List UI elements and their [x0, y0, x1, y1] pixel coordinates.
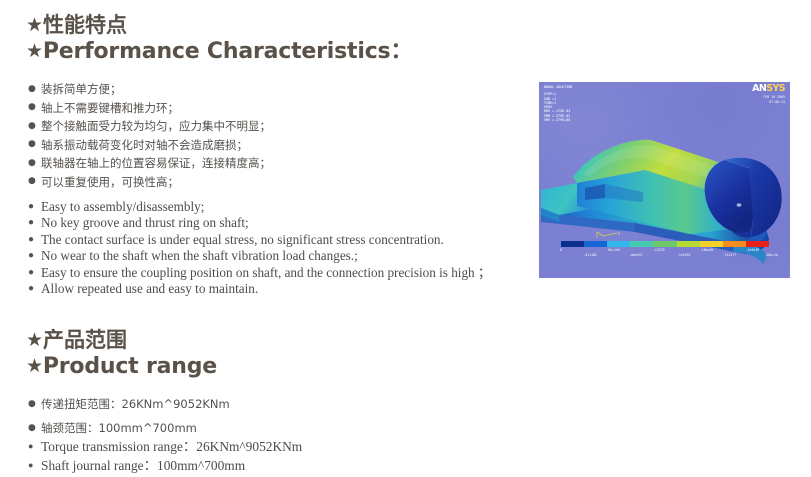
legend-label: .411181	[583, 253, 596, 257]
legend-label: .18e+05	[700, 248, 713, 252]
fea-annotation-block: NODAL SOLUTION STEP=1 SUB =1 TIME=1 SEQV…	[544, 85, 572, 122]
star-icon: ★	[26, 357, 43, 376]
star-icon: ★	[26, 331, 43, 350]
bullet-icon: ●	[28, 248, 34, 264]
bullet-icon: ●	[28, 265, 34, 281]
fea-date: FEB 18 2009	[752, 95, 785, 99]
list-item: ●联轴器在轴上的位置容易保证，连接精度高；	[28, 154, 271, 173]
section-heading-performance: ★性能特点 ★Performance Characteristics：	[26, 12, 412, 66]
list-item-text: Easy to assembly/disassembly;	[41, 199, 204, 214]
bullet-icon: ●	[28, 281, 34, 297]
list-item: ●No key groove and thrust ring on shaft;	[28, 215, 491, 231]
list-item: ●轴系振动载荷变化时对轴不会造成磨损；	[28, 136, 271, 155]
bullet-icon: ●	[28, 154, 36, 173]
list-item: ●Shaft journal range：100mm^700mm	[28, 456, 302, 475]
legend-swatch	[630, 241, 653, 247]
legend-swatch	[561, 241, 584, 247]
list-item-text: 轴颈范围：100mm^700mm	[41, 421, 197, 435]
heading-product-range-cn: ★产品范围	[26, 327, 217, 353]
list-item-text: Shaft journal range：100mm^700mm	[41, 458, 245, 473]
product-range-bullets-cn: ●传递扭矩范围：26KNm^9052KNm ●轴颈范围：100mm^700mm	[28, 392, 230, 440]
list-item-text: Easy to ensure the coupling position on …	[41, 265, 491, 280]
legend-label: .gee147	[629, 253, 642, 257]
list-item-text: Torque transmission range：26KNm^9052KNm	[41, 439, 302, 454]
heading-performance-cn: ★性能特点	[26, 12, 412, 38]
product-feature-page: ★性能特点 ★Performance Characteristics： ●装拆简…	[0, 0, 811, 477]
list-item-text: 联轴器在轴上的位置容易保证，连接精度高；	[41, 156, 271, 170]
bullet-icon: ●	[28, 437, 33, 456]
ansys-wordmark-b: SYS	[766, 83, 785, 94]
list-item: ●装拆简单方便；	[28, 80, 271, 99]
heading-product-range-cn-text: 产品范围	[43, 328, 127, 352]
legend-swatch	[700, 241, 723, 247]
legend-swatch	[584, 241, 607, 247]
bullet-icon: ●	[28, 456, 33, 475]
ansys-wordmark: ANSYS	[752, 84, 785, 94]
svg-text:Z: Z	[618, 232, 620, 236]
bullet-icon: ●	[28, 117, 36, 136]
legend-label: .13270	[653, 248, 665, 252]
list-item: ●The contact surface is under equal stre…	[28, 232, 491, 248]
legend-swatch	[653, 241, 676, 247]
ansys-logo: ANSYS FEB 18 2009 07:08:44	[752, 84, 785, 105]
fea-annot-line: SMX =.279E+08	[544, 118, 572, 122]
heading-product-range-en-text: Product range	[43, 354, 217, 379]
legend-label: .212177	[723, 253, 736, 257]
legend-color-bar	[561, 241, 769, 247]
heading-performance-cn-text: 性能特点	[43, 13, 127, 37]
list-item-text: No wear to the shaft when the shaft vibr…	[41, 248, 358, 263]
list-item-text: No key groove and thrust ring on shaft;	[41, 215, 249, 230]
list-item: ●Easy to ensure the coupling position on…	[28, 265, 491, 281]
star-icon: ★	[26, 42, 43, 61]
performance-bullets-en: ●Easy to assembly/disassembly; ●No key g…	[28, 199, 491, 297]
fea-annot-line: NODAL SOLUTION	[544, 85, 572, 89]
list-item-text: 轴上不需要键槽和推力环；	[41, 101, 179, 115]
performance-bullets-cn: ●装拆简单方便； ●轴上不需要键槽和推力环； ●整个接触面受力较为均匀，应力集中…	[28, 80, 271, 192]
bullet-icon: ●	[28, 392, 36, 416]
legend-swatch	[723, 241, 746, 247]
list-item: ●Easy to assembly/disassembly;	[28, 199, 491, 215]
legend-tick-labels: 0 .8e+1e5 .13270 .18e+05 .2e3e38 .411181…	[561, 248, 769, 260]
list-item: ●No wear to the shaft when the shaft vib…	[28, 248, 491, 264]
ansys-wordmark-a: AN	[752, 83, 766, 94]
legend-label: 0	[560, 248, 562, 252]
list-item-text: 可以重复使用，可换性高；	[41, 175, 179, 189]
fea-color-legend: 0 .8e+1e5 .13270 .18e+05 .2e3e38 .411181…	[561, 241, 769, 260]
legend-label: .28e+1e	[764, 253, 777, 257]
list-item: ●整个接触面受力较为均匀，应力集中不明显；	[28, 117, 271, 136]
ansys-fea-image: Z NODAL SOLUTION STEP=1 SUB =1 TIME=1 SE…	[539, 82, 790, 278]
list-item: ●Allow repeated use and easy to maintain…	[28, 281, 491, 297]
heading-product-range-en: ★Product range	[26, 353, 217, 381]
legend-swatch	[746, 241, 769, 247]
list-item-text: 装拆简单方便；	[41, 82, 122, 96]
bullet-icon: ●	[28, 172, 36, 191]
list-item-text: The contact surface is under equal stres…	[41, 232, 444, 247]
list-item: ●传递扭矩范围：26KNm^9052KNm	[28, 392, 230, 416]
star-icon: ★	[26, 16, 43, 35]
bullet-icon: ●	[28, 215, 34, 231]
bullet-icon: ●	[28, 135, 36, 154]
bullet-icon: ●	[28, 98, 36, 117]
product-range-bullets-en: ●Torque transmission range：26KNm^9052KNm…	[28, 437, 302, 475]
legend-label: .1e2e31	[677, 253, 690, 257]
section-heading-product-range: ★产品范围 ★Product range	[26, 327, 217, 381]
legend-label: .8e+1e5	[606, 248, 619, 252]
bullet-icon: ●	[28, 232, 34, 248]
legend-label: .2e3e38	[746, 248, 759, 252]
heading-performance-en-text: Performance Characteristics：	[43, 39, 412, 64]
legend-swatch	[677, 241, 700, 247]
list-item-text: 整个接触面受力较为均匀，应力集中不明显；	[41, 119, 271, 133]
list-item-text: 轴系振动载荷变化时对轴不会造成磨损；	[41, 138, 248, 152]
bullet-icon: ●	[28, 199, 34, 215]
fea-time: 07:08:44	[752, 100, 785, 104]
list-item-text: Allow repeated use and easy to maintain.	[41, 281, 258, 296]
legend-swatch	[607, 241, 630, 247]
list-item: ●轴上不需要键槽和推力环；	[28, 99, 271, 118]
list-item: ●Torque transmission range：26KNm^9052KNm	[28, 437, 302, 456]
list-item-text: 传递扭矩范围：26KNm^9052KNm	[41, 397, 230, 411]
bullet-icon: ●	[28, 80, 36, 99]
list-item: ●可以重复使用，可换性高；	[28, 173, 271, 192]
heading-performance-en: ★Performance Characteristics：	[26, 38, 412, 66]
